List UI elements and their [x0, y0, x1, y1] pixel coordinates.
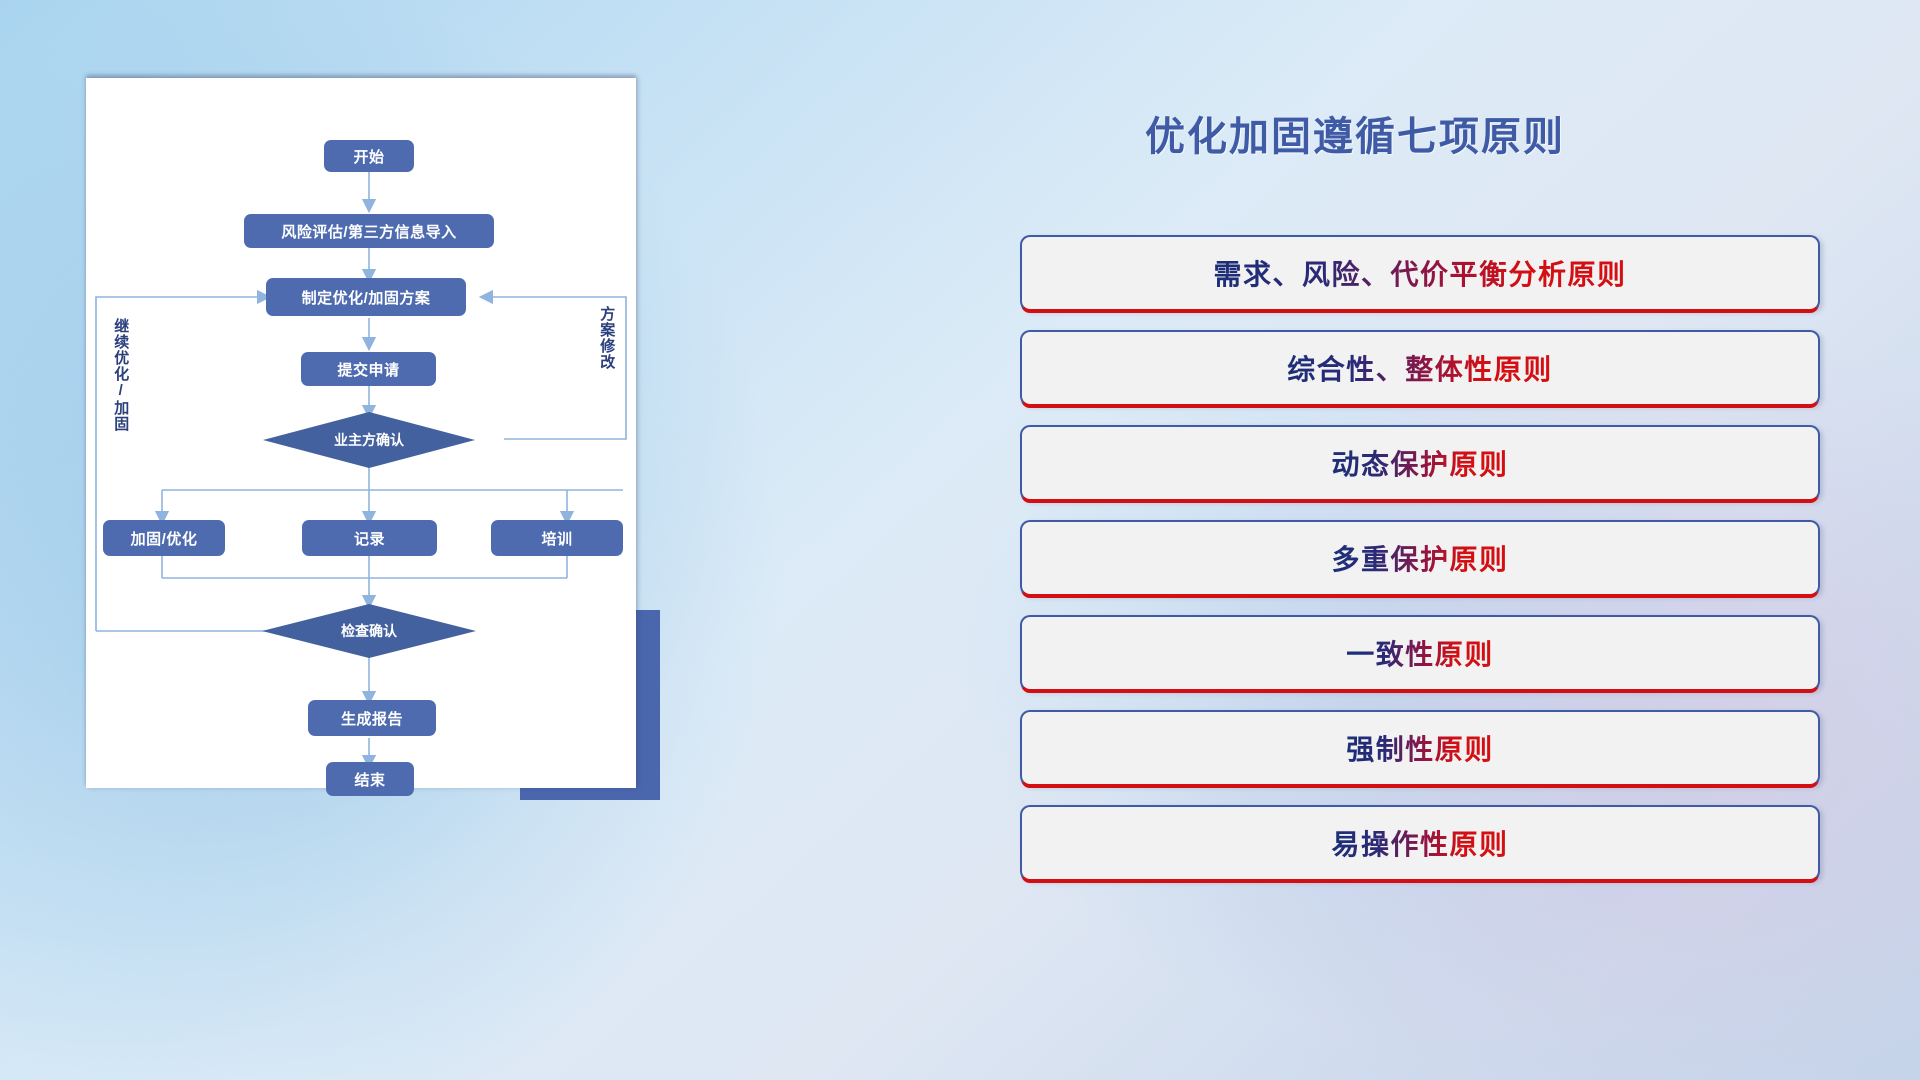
principle-label: 综合性、整体性原则: [1287, 348, 1553, 388]
flow-node-label: 制定优化/加固方案: [302, 287, 431, 308]
principle-card-1[interactable]: 需求、风险、代价平衡分析原则: [1020, 235, 1820, 311]
principle-card-4[interactable]: 多重保护原则: [1020, 520, 1820, 596]
flow-node-submit[interactable]: 提交申请: [301, 352, 436, 386]
flow-loop-label-right: 方案修改: [598, 306, 614, 406]
flow-node-label: 记录: [354, 528, 385, 549]
flow-node-label: 结束: [354, 769, 385, 790]
principle-card-5[interactable]: 一致性原则: [1020, 615, 1820, 691]
flowchart-panel: 开始 风险评估/第三方信息导入 制定优化/加固方案 提交申请 业主方确认 加固/…: [86, 78, 636, 788]
flow-node-label: 风险评估/第三方信息导入: [281, 221, 456, 242]
principle-label: 动态保护原则: [1331, 443, 1508, 483]
principles-panel: 优化加固遵循七项原则 需求、风险、代价平衡分析原则 综合性、整体性原则 动态保护…: [1020, 80, 1840, 1000]
flow-node-label: 开始: [353, 146, 384, 167]
principle-label: 一致性原则: [1346, 633, 1494, 673]
principles-list: 需求、风险、代价平衡分析原则 综合性、整体性原则 动态保护原则 多重保护原则 一…: [1020, 235, 1820, 900]
principle-label: 强制性原则: [1346, 728, 1494, 768]
principle-card-7[interactable]: 易操作性原则: [1020, 805, 1820, 881]
flow-node-risk[interactable]: 风险评估/第三方信息导入: [244, 214, 494, 248]
flow-node-label: 加固/优化: [131, 528, 198, 549]
flow-node-label: 提交申请: [337, 359, 399, 380]
principle-card-6[interactable]: 强制性原则: [1020, 710, 1820, 786]
flow-node-end[interactable]: 结束: [326, 762, 414, 796]
flow-node-report[interactable]: 生成报告: [308, 700, 436, 736]
flow-node-label: 检查确认: [341, 621, 397, 641]
flow-node-training[interactable]: 培训: [491, 520, 623, 556]
principle-card-2[interactable]: 综合性、整体性原则: [1020, 330, 1820, 406]
principle-label: 需求、风险、代价平衡分析原则: [1213, 253, 1626, 293]
flow-loop-label-left: 继续优化/加固: [112, 318, 128, 448]
flow-node-label: 生成报告: [341, 708, 403, 729]
page-title: 优化加固遵循七项原则: [1145, 104, 1565, 162]
flow-node-start[interactable]: 开始: [324, 140, 414, 172]
principle-label: 多重保护原则: [1331, 538, 1508, 578]
principle-label: 易操作性原则: [1331, 823, 1508, 863]
flow-node-record[interactable]: 记录: [302, 520, 437, 556]
flow-node-label: 业主方确认: [334, 430, 404, 450]
flow-node-reinforce[interactable]: 加固/优化: [103, 520, 225, 556]
flow-node-plan[interactable]: 制定优化/加固方案: [266, 278, 466, 316]
flow-node-label: 培训: [541, 528, 572, 549]
principle-card-3[interactable]: 动态保护原则: [1020, 425, 1820, 501]
